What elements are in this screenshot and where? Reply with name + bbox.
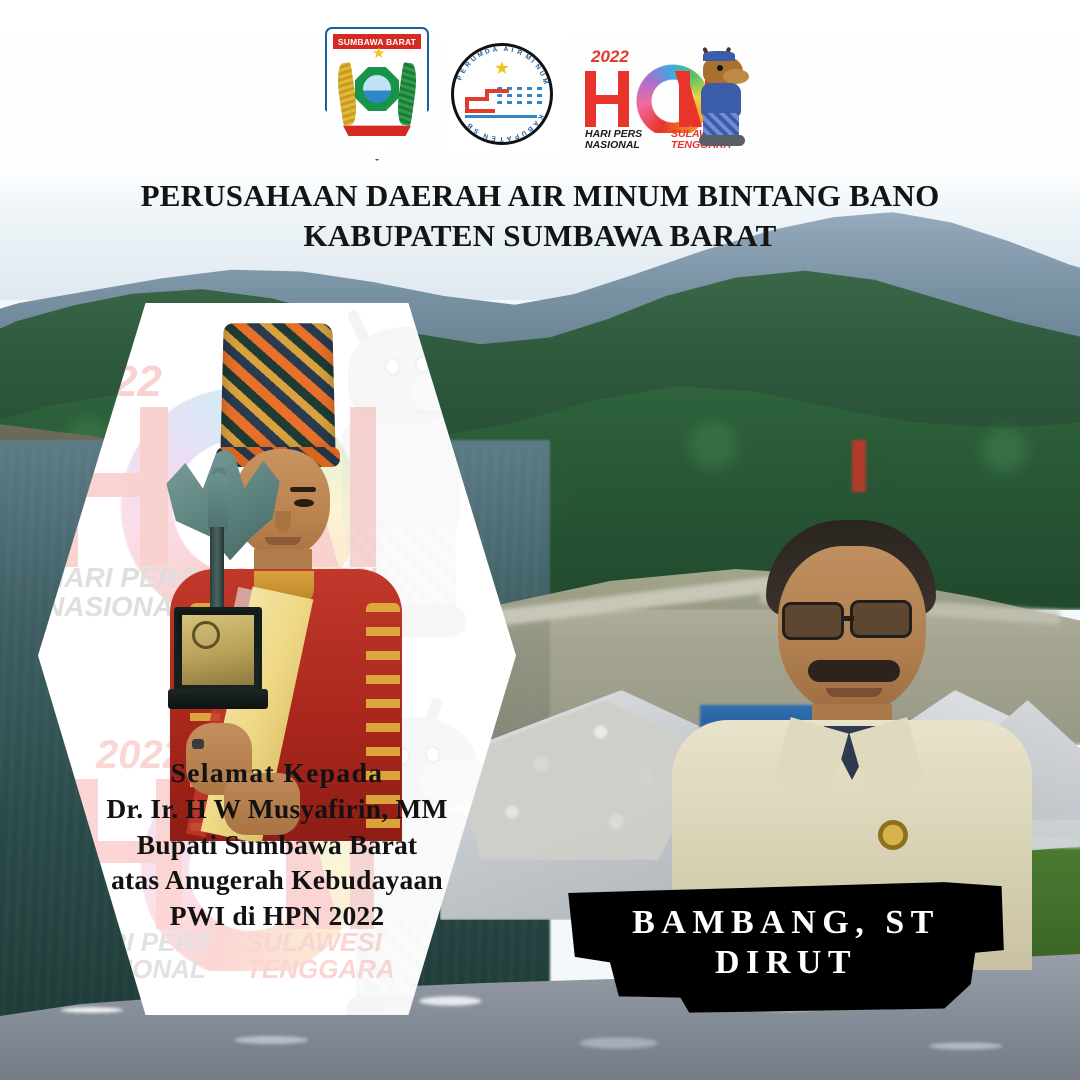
award-trophy-stem (210, 527, 224, 613)
award-trophy-base (168, 689, 268, 709)
name-banner-line-1: BAMBANG, ST (632, 903, 940, 943)
bupati-eyebrow-right (290, 487, 316, 492)
title-line-2: KABUPATEN SUMBAWA BARAT (0, 216, 1080, 256)
caption-line-3: Bupati Sumbawa Barat (38, 827, 516, 863)
bupati-ring (192, 739, 204, 749)
sumbawa-barat-regency-crest-icon: SUMBAWA BARAT ★ (325, 27, 429, 161)
dirut-glasses-bridge (842, 616, 854, 621)
name-banner: BAMBANG, ST DIRUT (566, 878, 1006, 1014)
red-tower-structure (852, 440, 866, 492)
bupati-songkok-hat (220, 323, 335, 461)
anoa-body-shirt (701, 83, 741, 117)
crest-water-emblem (363, 75, 391, 103)
bupati-nose (275, 511, 291, 533)
bupati-mouth (265, 537, 301, 545)
hpn-letter-h (585, 71, 631, 127)
hpn-label-left: HARI PERS NASIONAL (585, 129, 642, 151)
anoa-eye (717, 65, 723, 71)
perumda-arc-text-bottom: K A B U P A T E N S B (443, 35, 561, 153)
hpn-2022-logo-icon: 2022 HARI PERS NASIONAL SULAWESI TENGGAR… (575, 29, 755, 159)
anoa-sarong (703, 113, 739, 137)
title-line-1: PERUSAHAAN DAERAH AIR MINUM BINTANG BANO (0, 176, 1080, 216)
anoa-headband (703, 51, 735, 61)
dirut-mouth (826, 688, 882, 697)
award-trophy-seal (192, 621, 220, 649)
logo-row: SUMBAWA BARAT ★ ★ P (0, 24, 1080, 164)
dirut-mustache (808, 660, 900, 682)
caption-line-4: atas Anugerah Kebudayaan (38, 862, 516, 898)
perumda-air-minum-bintang-bano-logo-icon: ★ P E R U M D A A I R (443, 35, 561, 153)
poster-canvas: SUMBAWA BARAT ★ ★ P (0, 0, 1080, 1080)
award-trophy-figure-body (208, 473, 228, 531)
dirut-glasses-left-lens (782, 602, 844, 640)
page-title: PERUSAHAAN DAERAH AIR MINUM BINTANG BANO… (0, 176, 1080, 255)
caption-line-2: Dr. Ir. H W Musyafirin, MM (38, 791, 516, 827)
hpn-label-left-line2: NASIONAL (585, 140, 642, 151)
anoa-feet (699, 135, 745, 146)
anoa-snout (723, 69, 749, 84)
name-banner-line-2: DIRUT (715, 943, 857, 983)
award-trophy-gold-plate (182, 615, 254, 685)
anoa-mascot-icon (695, 47, 753, 149)
hpn-year-label: 2022 (591, 47, 629, 67)
dirut-uniform-badge (878, 820, 908, 850)
bupati-eye-right (294, 499, 314, 507)
caption-line-1: Selamat Kepada (38, 755, 516, 791)
dirut-glasses-right-lens (850, 600, 912, 638)
